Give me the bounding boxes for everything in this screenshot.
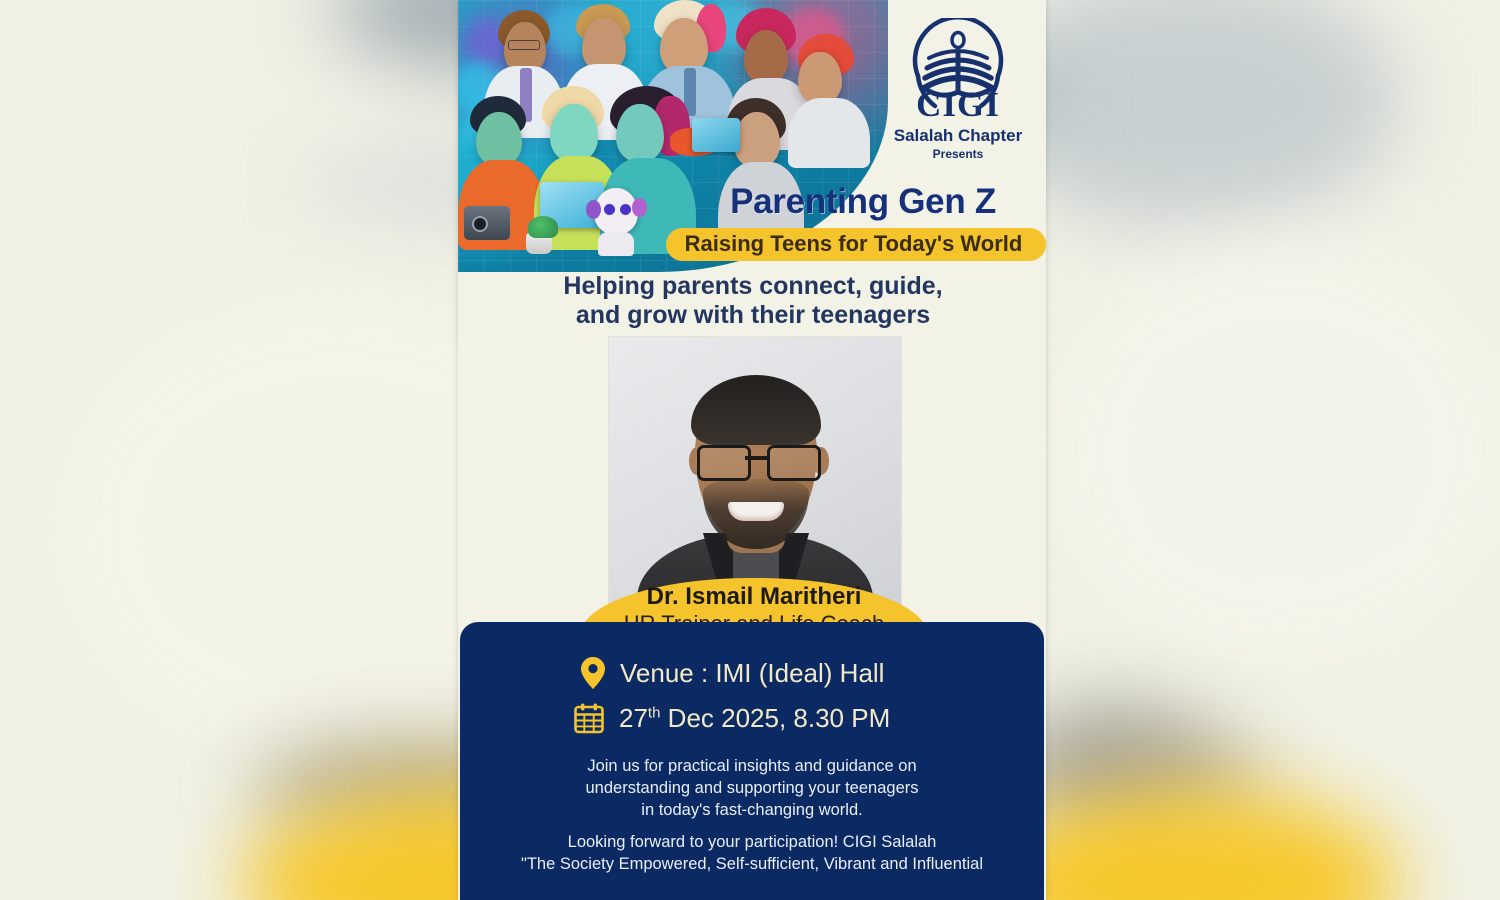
closing-line-1: Looking forward to your participation! C… [460,832,1044,854]
page-title: Parenting Gen Z [688,182,1038,222]
robot-ear [632,198,647,217]
plant-decor [528,216,558,238]
robot-eye [620,204,631,215]
poster-tagline: Helping parents connect, guide, and grow… [498,272,1008,331]
logo-chapter-label: Salalah Chapter [878,126,1038,146]
logo-wordmark: CIGI [878,88,1038,121]
event-poster: CIGI Salalah Chapter Presents Parenting … [458,0,1046,900]
teen-face [734,112,780,168]
cigi-logo-block: CIGI Salalah Chapter Presents [878,18,1038,161]
glasses-lens [767,445,821,481]
teen-face [550,104,598,162]
invitation-line-3: in today's fast-changing world. [460,800,1044,822]
portrait-smile [728,502,784,521]
event-details-panel: Venue : IMI (Ideal) Hall 27th Dec 2025, … [460,622,1044,900]
teen-face [616,104,664,162]
venue-text: Venue : IMI (Ideal) Hall [620,658,884,689]
teen-face [744,30,788,84]
glasses-bridge [745,456,767,460]
invitation-line-2: understanding and supporting your teenag… [460,778,1044,800]
tagline-line-2: and grow with their teenagers [498,301,1008,330]
logo-presents-label: Presents [878,147,1038,161]
calendar-icon [573,702,605,734]
date-ordinal: th [648,704,661,721]
date-rest: Dec 2025, 8.30 PM [660,703,890,733]
teen-face [476,112,522,166]
speaker-name: Dr. Ismail Maritheri [580,583,928,611]
map-pin-icon [580,656,606,690]
invitation-paragraph: Join us for practical insights and guida… [460,756,1044,822]
page-subtitle: Raising Teens for Today's World [666,231,1041,257]
glasses-lens [697,445,751,481]
robot-eye [604,204,615,215]
robot-body [598,232,634,256]
robot-ear [586,200,601,219]
tagline-line-1: Helping parents connect, guide, [498,272,1008,301]
teen-glasses-icon [508,40,540,50]
teen-face [798,52,842,104]
teen-body [788,98,870,168]
portrait-glasses-icon [695,445,817,475]
date-row: 27th Dec 2025, 8.30 PM [573,702,890,734]
portrait-hair [691,375,821,445]
tablet-device [692,118,740,152]
date-day: 27 [619,703,648,733]
projector-lens-icon [472,216,488,232]
poster-title-block: Parenting Gen Z [688,182,1038,222]
speaker-portrait-photo [608,336,902,610]
venue-row: Venue : IMI (Ideal) Hall [580,656,884,690]
closing-paragraph: Looking forward to your participation! C… [460,832,1044,876]
date-text: 27th Dec 2025, 8.30 PM [619,703,890,734]
invitation-line-1: Join us for practical insights and guida… [460,756,1044,778]
backdrop-blur-blob [1050,240,1500,660]
closing-line-2: "The Society Empowered, Self-sufficient,… [460,854,1044,876]
